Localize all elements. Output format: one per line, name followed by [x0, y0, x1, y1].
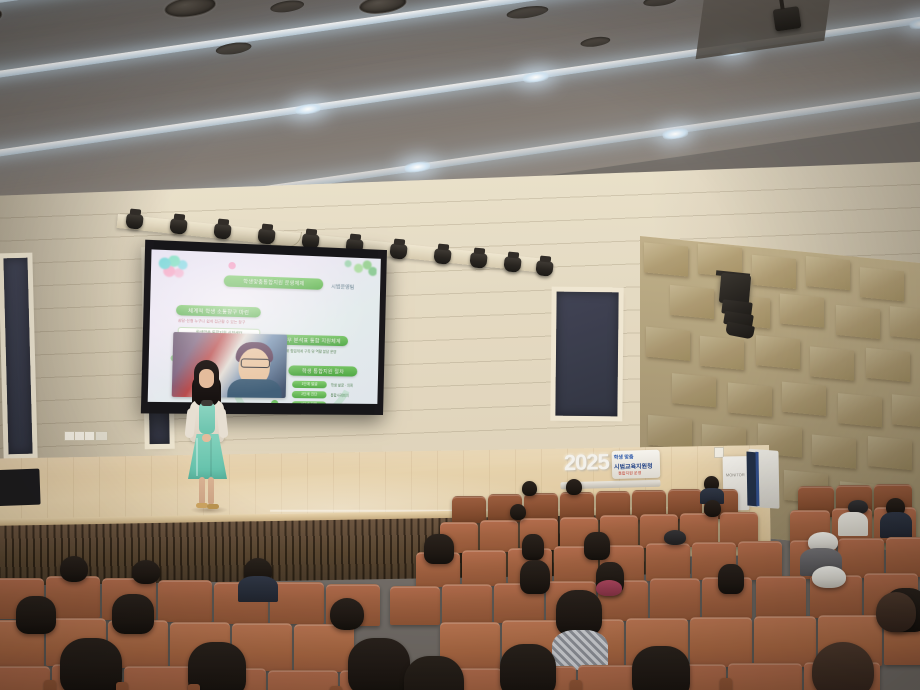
table-row[interactable] [524, 493, 558, 521]
table-row[interactable] [462, 550, 506, 586]
audience-head-cap [664, 530, 686, 545]
ceiling-vent-icon-1 [270, 0, 305, 14]
audience-head [500, 644, 556, 690]
presenter-leg-right [208, 477, 214, 505]
auditorium-scene: 학생맞춤통합지원 운영체제 시범운영팀 체계적 학생 소통창구 마련 상담·신청… [0, 0, 920, 690]
audience-head [718, 564, 744, 594]
ceiling-vent-icon-3 [506, 4, 549, 21]
audience-head [132, 560, 160, 584]
table-row[interactable] [158, 580, 212, 622]
seat-armrest [570, 680, 582, 690]
table-row[interactable] [838, 538, 884, 578]
ceiling-vent-icon-5 [643, 0, 678, 8]
audience-head [348, 638, 410, 690]
seat-armrest [116, 682, 128, 690]
table-row[interactable] [442, 584, 492, 624]
audience-head [522, 534, 544, 560]
audience-head [60, 638, 122, 690]
table-row[interactable] [738, 541, 782, 580]
led-endcap-icon-4 [294, 102, 321, 116]
audience-shoulders [552, 630, 608, 670]
table-row[interactable] [728, 663, 802, 690]
led-endcap-icon-9 [662, 127, 689, 141]
seat-armrest [188, 684, 200, 690]
table-row[interactable] [268, 670, 338, 690]
ceiling-speaker-icon-3 [163, 0, 217, 20]
table-row[interactable] [0, 666, 50, 690]
ceiling-projector-icon [773, 6, 802, 31]
audience-shoulders [880, 512, 912, 538]
ceiling-speaker-icon-2 [0, 4, 4, 31]
audience-head [566, 479, 582, 495]
table-row[interactable] [650, 578, 700, 620]
presenter-hands [202, 434, 211, 442]
audience-shoulders [838, 512, 868, 536]
presenter-leg-left [199, 477, 205, 505]
audience-head [404, 656, 464, 690]
audience-head [60, 556, 88, 582]
seat-armrest [44, 680, 56, 690]
presenter-face [199, 369, 214, 388]
presenter-collar [201, 400, 213, 406]
table-row[interactable] [754, 616, 816, 667]
table-row[interactable] [690, 617, 752, 667]
table-row[interactable] [452, 496, 486, 523]
ceiling-access-hatch [696, 0, 833, 59]
table-row[interactable] [646, 543, 690, 581]
audience-head [632, 646, 690, 690]
seat-armrest [720, 678, 732, 690]
table-row[interactable] [756, 576, 806, 619]
wall-panel-plate[interactable] [95, 431, 108, 441]
table-row[interactable] [390, 586, 440, 625]
presenter-shoe-right [207, 504, 219, 509]
audience-seating [0, 460, 920, 690]
audience-head [16, 596, 56, 634]
led-endcap-icon-8 [404, 160, 431, 174]
audience-head [876, 592, 916, 632]
audience-shoulders [238, 576, 278, 602]
audience-head-cap [812, 566, 846, 588]
audience-head [522, 481, 537, 496]
table-row[interactable] [294, 624, 354, 672]
table-row[interactable] [270, 582, 324, 624]
audience-head [704, 500, 721, 517]
ceiling-vent-icon-6 [580, 35, 611, 48]
projection-screen: 학생맞춤통합지원 운영체제 시범운영팀 체계적 학생 소통창구 마련 상담·신청… [141, 240, 387, 415]
audience-head [188, 642, 246, 690]
acoustic-wall-panel-center [555, 292, 618, 417]
acoustic-wall-panel-left [3, 258, 32, 455]
audience-head-cap [596, 580, 622, 596]
audience-head [330, 598, 364, 630]
table-row[interactable] [886, 537, 920, 577]
presenter-skirt-fold-2 [210, 438, 212, 476]
presenter-skirt-fold-1 [196, 438, 198, 476]
table-row[interactable] [124, 666, 194, 690]
audience-head [424, 534, 454, 564]
seat-armrest [330, 686, 342, 690]
led-endcap-icon-5 [522, 70, 549, 84]
wall-outlet-3[interactable] [84, 431, 95, 441]
audience-head [584, 532, 610, 560]
presenter-top [199, 402, 215, 434]
audience-head [112, 594, 154, 634]
presenter-arm-right [216, 408, 228, 439]
audience-head [520, 560, 550, 594]
audience-head [510, 504, 526, 520]
